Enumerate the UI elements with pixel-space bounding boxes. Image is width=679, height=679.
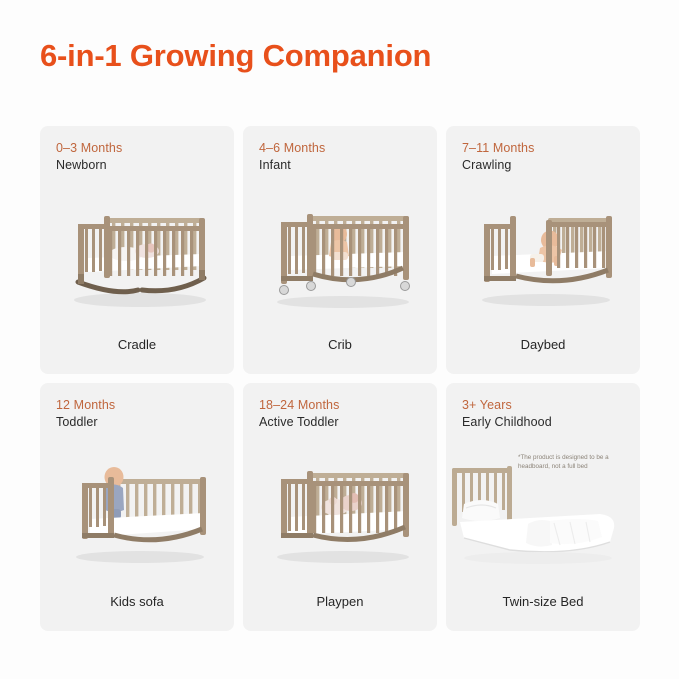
stage-label: Newborn <box>56 157 234 174</box>
stage-card-twin-bed[interactable]: 3+ Years Early Childhood <box>446 383 640 631</box>
caption-label: Crib <box>243 337 437 374</box>
caption-label: Cradle <box>40 337 234 374</box>
product-image-crib <box>243 174 437 337</box>
card-header: 4–6 Months Infant <box>243 126 437 174</box>
stage-card-playpen[interactable]: 18–24 Months Active Toddler <box>243 383 437 631</box>
card-header: 12 Months Toddler <box>40 383 234 431</box>
card-header: 0–3 Months Newborn <box>40 126 234 174</box>
page-title: 6-in-1 Growing Companion <box>40 38 431 74</box>
card-header: 3+ Years Early Childhood <box>446 383 640 431</box>
age-label: 4–6 Months <box>259 140 437 157</box>
age-label: 12 Months <box>56 397 234 414</box>
caption-label: Twin-size Bed <box>446 594 640 631</box>
age-label: 7–11 Months <box>462 140 640 157</box>
disclaimer-note: *The product is designed to be a headboa… <box>518 453 630 472</box>
product-image-daybed <box>446 174 640 337</box>
product-image-cradle <box>40 174 234 337</box>
stage-label: Early Childhood <box>462 414 640 431</box>
stage-card-grid: 0–3 Months Newborn <box>40 126 640 631</box>
product-image-kids-sofa <box>40 431 234 594</box>
age-label: 0–3 Months <box>56 140 234 157</box>
stage-label: Crawling <box>462 157 640 174</box>
stage-card-crib[interactable]: 4–6 Months Infant <box>243 126 437 374</box>
stage-card-cradle[interactable]: 0–3 Months Newborn <box>40 126 234 374</box>
growing-companion-infographic: 6-in-1 Growing Companion 0–3 Months Newb… <box>0 0 679 679</box>
stage-label: Active Toddler <box>259 414 437 431</box>
daybed-illustration <box>458 196 628 314</box>
playpen-illustration <box>255 453 425 571</box>
stage-label: Toddler <box>56 414 234 431</box>
crib-illustration <box>255 196 425 314</box>
stage-card-kids-sofa[interactable]: 12 Months Toddler <box>40 383 234 631</box>
age-label: 18–24 Months <box>259 397 437 414</box>
caption-label: Kids sofa <box>40 594 234 631</box>
caption-label: Playpen <box>243 594 437 631</box>
product-image-twin-bed: *The product is designed to be a headboa… <box>446 431 640 594</box>
card-header: 7–11 Months Crawling <box>446 126 640 174</box>
caption-label: Daybed <box>446 337 640 374</box>
product-image-playpen <box>243 431 437 594</box>
age-label: 3+ Years <box>462 397 640 414</box>
stage-label: Infant <box>259 157 437 174</box>
kids-sofa-illustration <box>52 453 222 571</box>
stage-card-daybed[interactable]: 7–11 Months Crawling <box>446 126 640 374</box>
cradle-illustration <box>52 196 222 314</box>
card-header: 18–24 Months Active Toddler <box>243 383 437 431</box>
